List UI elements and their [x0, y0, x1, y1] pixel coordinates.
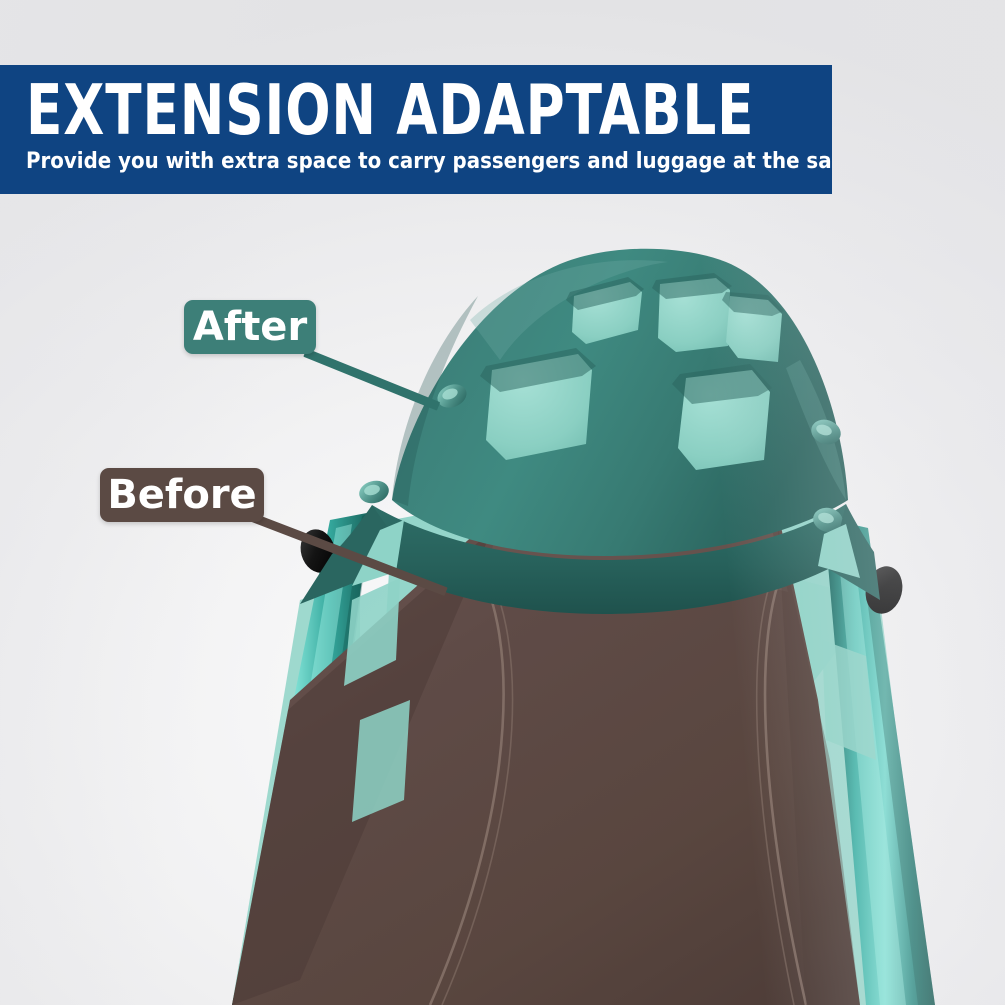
banner-subtitle: Provide you with extra space to carry pa… [26, 149, 739, 175]
product-image-canvas: EXTENSION ADAPTABLE Provide you with ext… [0, 0, 1005, 1005]
banner-title: EXTENSION ADAPTABLE [26, 69, 707, 152]
headline-banner: EXTENSION ADAPTABLE Provide you with ext… [0, 65, 832, 194]
callout-after: After [184, 300, 316, 354]
callout-before: Before [100, 468, 264, 522]
